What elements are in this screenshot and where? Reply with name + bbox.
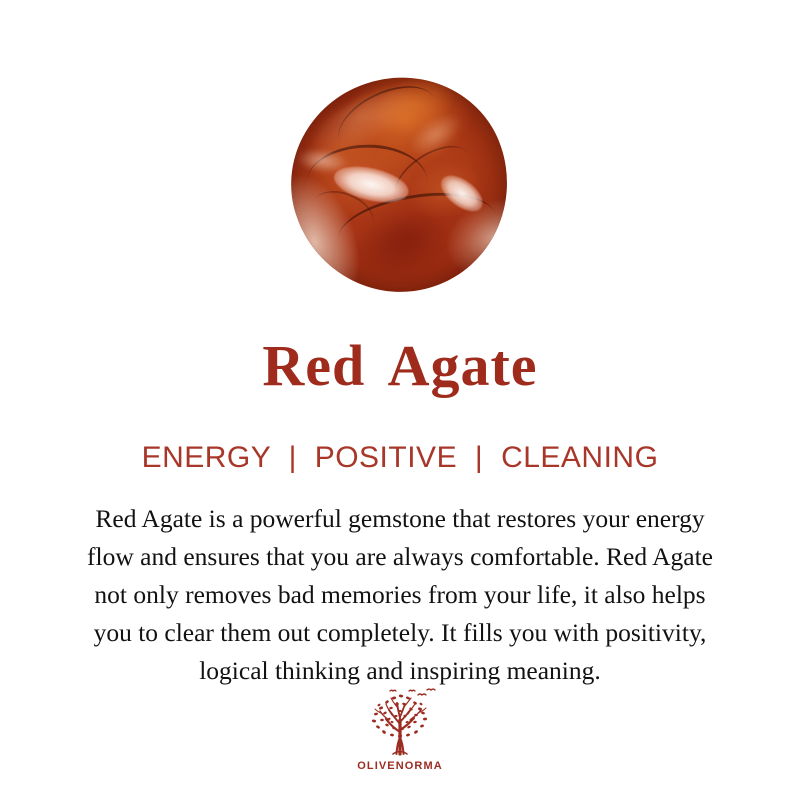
description-line: flow and ensures that you are always com… [22, 538, 778, 576]
stone-blotch [364, 65, 464, 146]
stone-vein [306, 143, 428, 221]
stone-soft-highlight [296, 146, 350, 176]
stone-blotch [343, 199, 458, 292]
description-line: Red Agate is a powerful gemstone that re… [22, 500, 778, 538]
stone-vein [328, 72, 446, 168]
description-line: logical thinking and inspiring meaning. [22, 652, 778, 690]
description-line: you to clear them out completely. It fil… [22, 614, 778, 652]
attribute-positive: POSITIVE [315, 441, 457, 474]
attribute-cleaning: CLEANING [501, 441, 658, 474]
brand-wordmark: OLIVENORMA [357, 760, 443, 772]
stone-blotch [401, 152, 489, 229]
attribute-energy: ENERGY [142, 441, 271, 474]
stone-gloss [304, 76, 424, 165]
product-info-card: Red Agate ENERGY | POSITIVE | CLEANING R… [0, 0, 800, 800]
gemstone-image [0, 0, 800, 310]
stone-soft-highlight [404, 106, 467, 163]
attribute-separator: | [280, 440, 306, 476]
attribute-separator: | [466, 440, 492, 476]
product-description: Red Agate is a powerful gemstone that re… [22, 500, 778, 690]
tree-of-life-icon [361, 686, 439, 758]
stone-blotch [297, 115, 383, 187]
brand-logo: OLIVENORMA [0, 686, 800, 772]
stone-vein [384, 133, 483, 221]
stone-specular-highlight [435, 168, 488, 217]
stone-vein [333, 183, 501, 274]
description-line: not only removes bad memories from your … [22, 576, 778, 614]
stone-body [263, 49, 537, 322]
stone-rim [263, 49, 537, 322]
attribute-list: ENERGY | POSITIVE | CLEANING [0, 440, 800, 476]
red-agate-stone [263, 49, 537, 322]
page-title: Red Agate [0, 336, 800, 397]
stone-specular-highlight [331, 161, 412, 209]
stone-vein [304, 183, 381, 248]
